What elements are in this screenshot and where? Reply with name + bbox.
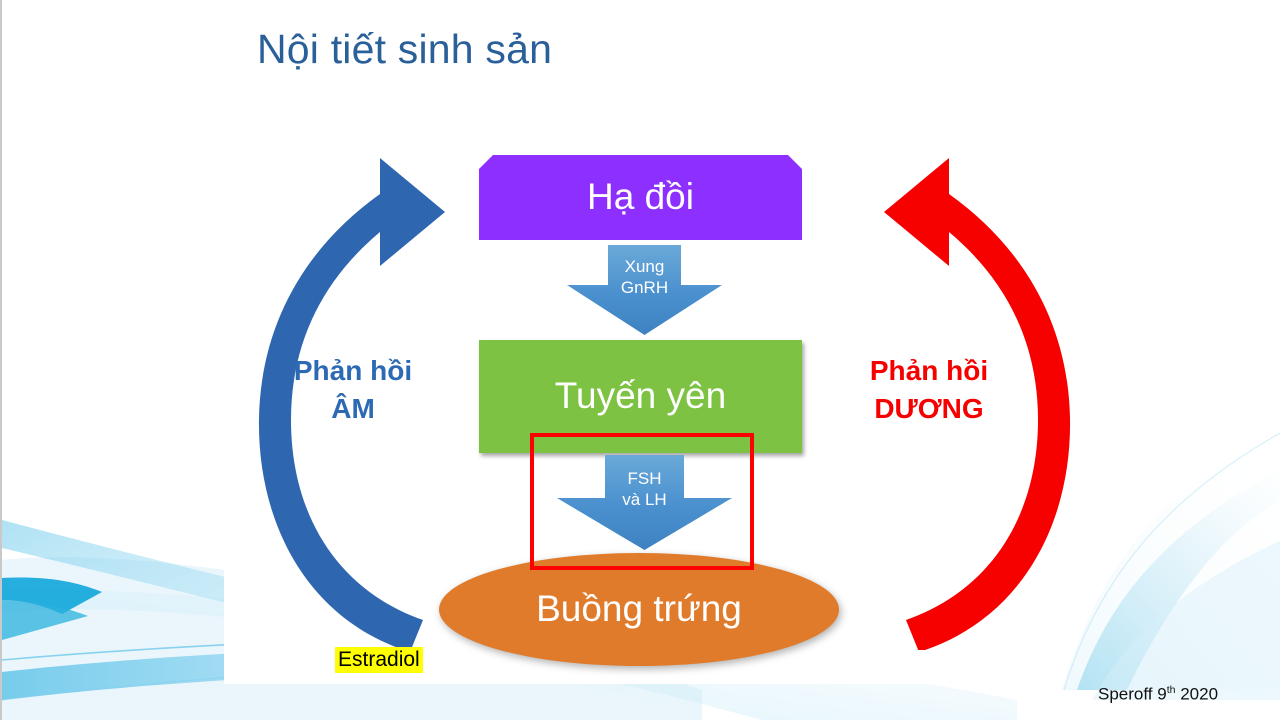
positive-feedback-line1: Phản hồi <box>844 352 1014 390</box>
ovary-label: Buồng trứng <box>536 589 742 630</box>
positive-feedback-line2: DƯƠNG <box>844 390 1014 428</box>
negative-feedback-line1: Phản hồi <box>268 352 438 390</box>
page-title: Nội tiết sinh sản <box>257 26 552 73</box>
gnrh-arrow-icon <box>567 245 722 335</box>
source-citation: Speroff 9th 2020 <box>1098 684 1218 705</box>
estradiol-callout: Estradiol <box>335 647 423 673</box>
negative-feedback-line2: ÂM <box>268 390 438 428</box>
negative-feedback-label: Phản hồi ÂM <box>268 352 438 428</box>
slide: Nội tiết sinh sản Phản hồi ÂM Phản hồi D… <box>0 0 1280 720</box>
hypothalamus-node: Hạ đồi <box>479 155 802 240</box>
pituitary-label: Tuyến yên <box>555 376 726 417</box>
source-prefix: Speroff 9 <box>1098 685 1167 704</box>
gnrh-arrow: Xung GnRH <box>567 245 722 335</box>
source-suffix: 2020 <box>1175 685 1218 704</box>
highlight-rectangle <box>530 433 754 570</box>
positive-feedback-label: Phản hồi DƯƠNG <box>844 352 1014 428</box>
hypothalamus-label: Hạ đồi <box>587 177 694 218</box>
